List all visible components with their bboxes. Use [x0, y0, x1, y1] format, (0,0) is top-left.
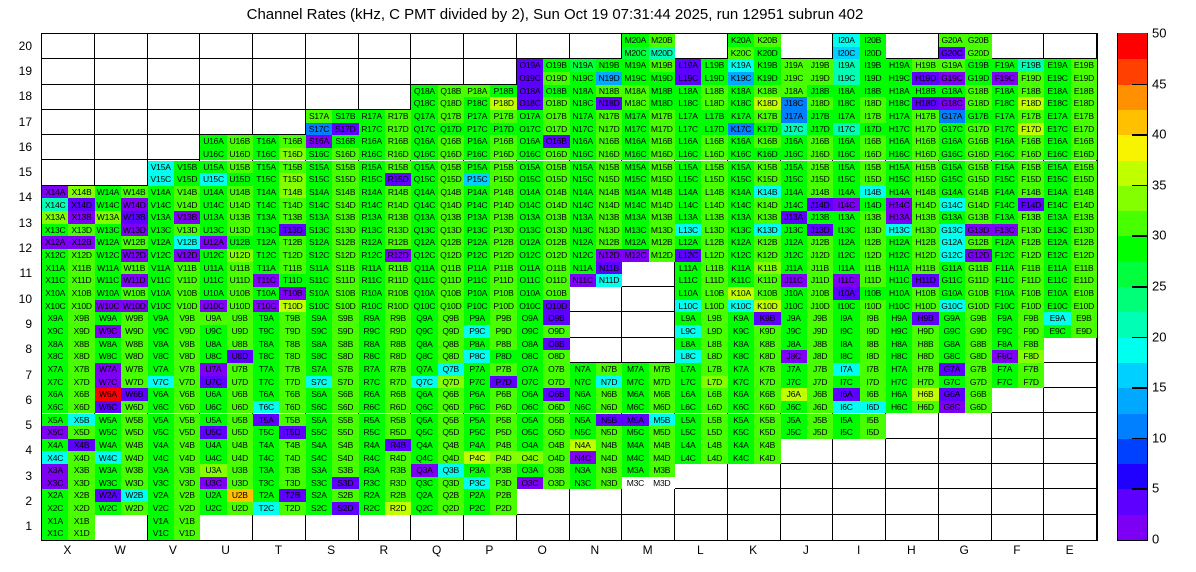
- channel-N17A[interactable]: N17A: [570, 110, 596, 123]
- channel-H7C[interactable]: H7C: [886, 376, 912, 389]
- channel-R15A[interactable]: R15A: [359, 161, 385, 174]
- channel-H11C[interactable]: H11C: [886, 274, 912, 287]
- channel-T6D[interactable]: T6D: [279, 401, 305, 414]
- heatmap-cell[interactable]: Q7AQ7BQ7CQ7D: [411, 363, 464, 388]
- channel-F14A[interactable]: F14A: [992, 186, 1018, 199]
- channel-X5B[interactable]: X5B: [68, 414, 94, 427]
- channel-F7A[interactable]: F7A: [992, 363, 1018, 376]
- channel-W4B[interactable]: W4B: [121, 439, 147, 452]
- channel-H16D[interactable]: H16D: [912, 148, 938, 161]
- channel-T8D[interactable]: T8D: [279, 350, 305, 363]
- channel-V15A[interactable]: V15A: [148, 161, 174, 174]
- heatmap-cell[interactable]: L7AL7BL7CL7D: [675, 363, 728, 388]
- channel-W10C[interactable]: W10C: [95, 300, 121, 313]
- heatmap-cell[interactable]: N18AN18BN18CN18D: [570, 85, 623, 110]
- channel-J17D[interactable]: J17D: [807, 123, 833, 136]
- channel-T14A[interactable]: T14A: [253, 186, 279, 199]
- channel-E17A[interactable]: E17A: [1044, 110, 1070, 123]
- heatmap-cell[interactable]: E10AE10BE10CE10D: [1044, 287, 1097, 312]
- channel-U10D[interactable]: U10D: [227, 300, 253, 313]
- channel-K6C[interactable]: K6C: [728, 401, 754, 414]
- channel-Q7C[interactable]: Q7C: [411, 376, 437, 389]
- channel-X9A[interactable]: X9A: [42, 312, 68, 325]
- channel-H18D[interactable]: H18D: [912, 97, 938, 110]
- heatmap-cell[interactable]: I6AI6BI6CI6D: [833, 388, 886, 413]
- channel-R4C[interactable]: R4C: [359, 451, 385, 464]
- heatmap-cell[interactable]: J14AJ14BJ14CJ14D: [781, 186, 834, 211]
- channel-V1C[interactable]: V1C: [148, 527, 174, 540]
- channel-W2B[interactable]: W2B: [121, 489, 147, 502]
- channel-M20A[interactable]: M20A: [622, 34, 648, 47]
- channel-T12B[interactable]: T12B: [279, 236, 305, 249]
- heatmap-cell[interactable]: N17AN17BN17CN17D: [570, 110, 623, 135]
- channel-G16A[interactable]: G16A: [939, 135, 965, 148]
- channel-P17A[interactable]: P17A: [464, 110, 490, 123]
- channel-L18A[interactable]: L18A: [675, 85, 701, 98]
- channel-K4B[interactable]: K4B: [754, 439, 780, 452]
- channel-H15C[interactable]: H15C: [886, 173, 912, 186]
- heatmap-cell[interactable]: L11AL11BL11CL11D: [675, 262, 728, 287]
- channel-H19B[interactable]: H19B: [912, 59, 938, 72]
- channel-M19B[interactable]: M19B: [649, 59, 675, 72]
- channel-U7C[interactable]: U7C: [200, 376, 226, 389]
- heatmap-cell[interactable]: R9AR9BR9CR9D: [359, 312, 412, 337]
- heatmap-cell[interactable]: O14AO14BO14CO14D: [517, 186, 570, 211]
- channel-L13A[interactable]: L13A: [675, 211, 701, 224]
- channel-K9A[interactable]: K9A: [728, 312, 754, 325]
- heatmap-cell[interactable]: P17AP17BP17CP17D: [464, 110, 517, 135]
- channel-I10C[interactable]: I10C: [833, 300, 859, 313]
- channel-I5D[interactable]: I5D: [860, 426, 886, 439]
- channel-U13D[interactable]: U13D: [227, 224, 253, 237]
- channel-T10D[interactable]: T10D: [279, 300, 305, 313]
- channel-S6C[interactable]: S6C: [306, 401, 332, 414]
- channel-N18A[interactable]: N18A: [570, 85, 596, 98]
- channel-H9A[interactable]: H9A: [886, 312, 912, 325]
- channel-L17A[interactable]: L17A: [675, 110, 701, 123]
- channel-U3D[interactable]: U3D: [227, 477, 253, 490]
- channel-J19D[interactable]: J19D: [807, 72, 833, 85]
- channel-K5C[interactable]: K5C: [728, 426, 754, 439]
- heatmap-cell[interactable]: G15AG15BG15CG15D: [939, 161, 992, 186]
- channel-P5C[interactable]: P5C: [464, 426, 490, 439]
- channel-X14D[interactable]: X14D: [68, 198, 94, 211]
- channel-N18D[interactable]: N18D: [596, 97, 622, 110]
- channel-V9B[interactable]: V9B: [174, 312, 200, 325]
- heatmap-cell[interactable]: G18AG18BG18CG18D: [939, 85, 992, 110]
- channel-V2D[interactable]: V2D: [174, 502, 200, 515]
- channel-R6B[interactable]: R6B: [385, 388, 411, 401]
- channel-S3D[interactable]: S3D: [332, 477, 358, 490]
- channel-V6B[interactable]: V6B: [174, 388, 200, 401]
- channel-O11D[interactable]: O11D: [543, 274, 569, 287]
- heatmap-cell[interactable]: U5AU5BU5CU5D: [200, 414, 253, 439]
- channel-P15A[interactable]: P15A: [464, 161, 490, 174]
- heatmap-cell[interactable]: V8AV8BV8CV8D: [148, 338, 201, 363]
- heatmap-cell[interactable]: J9AJ9BJ9CJ9D: [781, 312, 834, 337]
- heatmap-cell[interactable]: O5AO5BO5CO5D: [517, 414, 570, 439]
- channel-W11D[interactable]: W11D: [121, 274, 147, 287]
- channel-P6D[interactable]: P6D: [490, 401, 516, 414]
- heatmap-cell[interactable]: S17AS17BS17CS17D: [306, 110, 359, 135]
- channel-N12A[interactable]: N12A: [570, 236, 596, 249]
- channel-P7A[interactable]: P7A: [464, 363, 490, 376]
- channel-W3A[interactable]: W3A: [95, 464, 121, 477]
- channel-N13D[interactable]: N13D: [596, 224, 622, 237]
- channel-F14D[interactable]: F14D: [1018, 198, 1044, 211]
- channel-H14D[interactable]: H14D: [912, 198, 938, 211]
- channel-V10C[interactable]: V10C: [148, 300, 174, 313]
- heatmap-cell[interactable]: K5AK5BK5CK5D: [728, 414, 781, 439]
- heatmap-cell[interactable]: V4AV4BV4CV4D: [148, 439, 201, 464]
- channel-W2C[interactable]: W2C: [95, 502, 121, 515]
- channel-M6B[interactable]: M6B: [649, 388, 675, 401]
- heatmap-cell[interactable]: O6AO6BO6CO6D: [517, 388, 570, 413]
- heatmap-cell[interactable]: N15AN15BN15CN15D: [570, 161, 623, 186]
- heatmap-cell[interactable]: N4AN4BN4CN4D: [570, 439, 623, 464]
- heatmap-cell[interactable]: I12AI12BI12CI12D: [833, 236, 886, 261]
- channel-U6C[interactable]: U6C: [200, 401, 226, 414]
- channel-S6B[interactable]: S6B: [332, 388, 358, 401]
- channel-P14C[interactable]: P14C: [464, 198, 490, 211]
- channel-W9A[interactable]: W9A: [95, 312, 121, 325]
- heatmap-cell[interactable]: S8AS8BS8CS8D: [306, 338, 359, 363]
- channel-Q12D[interactable]: Q12D: [438, 249, 464, 262]
- channel-X7D[interactable]: X7D: [68, 376, 94, 389]
- channel-O9D[interactable]: O9D: [543, 325, 569, 338]
- channel-Q18A[interactable]: Q18A: [411, 85, 437, 98]
- channel-T15A[interactable]: T15A: [253, 161, 279, 174]
- channel-U8D[interactable]: U8D: [227, 350, 253, 363]
- channel-F11B[interactable]: F11B: [1018, 262, 1044, 275]
- channel-K11B[interactable]: K11B: [754, 262, 780, 275]
- channel-J8C[interactable]: J8C: [781, 350, 807, 363]
- channel-T15D[interactable]: T15D: [279, 173, 305, 186]
- channel-H17D[interactable]: H17D: [912, 123, 938, 136]
- channel-V7D[interactable]: V7D: [174, 376, 200, 389]
- channel-V9A[interactable]: V9A: [148, 312, 174, 325]
- channel-J5C[interactable]: J5C: [781, 426, 807, 439]
- heatmap-cell[interactable]: G12AG12BG12CG12D: [939, 236, 992, 261]
- channel-P17C[interactable]: P17C: [464, 123, 490, 136]
- channel-H16B[interactable]: H16B: [912, 135, 938, 148]
- channel-V7B[interactable]: V7B: [174, 363, 200, 376]
- channel-S7D[interactable]: S7D: [332, 376, 358, 389]
- channel-L16C[interactable]: L16C: [675, 148, 701, 161]
- channel-N13A[interactable]: N13A: [570, 211, 596, 224]
- channel-I20D[interactable]: I20D: [860, 47, 886, 60]
- channel-J18B[interactable]: J18B: [807, 85, 833, 98]
- heatmap-cell[interactable]: Q2AQ2BQ2CQ2D: [411, 489, 464, 514]
- heatmap-cell[interactable]: O3AO3BO3CO3D: [517, 464, 570, 489]
- channel-G16B[interactable]: G16B: [965, 135, 991, 148]
- heatmap-cell[interactable]: X7AX7BX7CX7D: [42, 363, 95, 388]
- channel-P4D[interactable]: P4D: [490, 451, 516, 464]
- heatmap-cell[interactable]: R3AR3BR3CR3D: [359, 464, 412, 489]
- heatmap-cell[interactable]: Q14AQ14BQ14CQ14D: [411, 186, 464, 211]
- channel-M18A[interactable]: M18A: [622, 85, 648, 98]
- heatmap-cell[interactable]: X8AX8BX8CX8D: [42, 338, 95, 363]
- channel-L4C[interactable]: L4C: [675, 451, 701, 464]
- channel-L17B[interactable]: L17B: [701, 110, 727, 123]
- channel-F8D[interactable]: F8D: [1018, 350, 1044, 363]
- channel-G13A[interactable]: G13A: [939, 211, 965, 224]
- channel-T3C[interactable]: T3C: [253, 477, 279, 490]
- channel-X9C[interactable]: X9C: [42, 325, 68, 338]
- channel-L17C[interactable]: L17C: [675, 123, 701, 136]
- channel-N11C[interactable]: N11C: [570, 274, 596, 287]
- channel-O3C[interactable]: O3C: [517, 477, 543, 490]
- channel-E9B[interactable]: E9B: [1071, 312, 1097, 325]
- channel-K8B[interactable]: K8B: [754, 338, 780, 351]
- channel-H12C[interactable]: H12C: [886, 249, 912, 262]
- channel-M13B[interactable]: M13B: [649, 211, 675, 224]
- heatmap-cell[interactable]: T7AT7BT7CT7D: [253, 363, 306, 388]
- heatmap-cell[interactable]: T3AT3BT3CT3D: [253, 464, 306, 489]
- channel-S9D[interactable]: S9D: [332, 325, 358, 338]
- channel-F10D[interactable]: F10D: [1018, 300, 1044, 313]
- heatmap-cell[interactable]: S7AS7BS7CS7D: [306, 363, 359, 388]
- channel-G19B[interactable]: G19B: [965, 59, 991, 72]
- channel-G7C[interactable]: G7C: [939, 376, 965, 389]
- channel-H16C[interactable]: H16C: [886, 148, 912, 161]
- channel-M7D[interactable]: M7D: [649, 376, 675, 389]
- heatmap-cell[interactable]: S9AS9BS9CS9D: [306, 312, 359, 337]
- channel-S17B[interactable]: S17B: [332, 110, 358, 123]
- channel-I6B[interactable]: I6B: [860, 388, 886, 401]
- channel-J9A[interactable]: J9A: [781, 312, 807, 325]
- heatmap-cell[interactable]: R5AR5BR5CR5D: [359, 414, 412, 439]
- channel-W14B[interactable]: W14B: [121, 186, 147, 199]
- channel-T16D[interactable]: T16D: [279, 148, 305, 161]
- channel-K17B[interactable]: K17B: [754, 110, 780, 123]
- heatmap-cell[interactable]: I8AI8BI8CI8D: [833, 338, 886, 363]
- channel-Q6C[interactable]: Q6C: [411, 401, 437, 414]
- channel-M19C[interactable]: M19C: [622, 72, 648, 85]
- channel-E15B[interactable]: E15B: [1071, 161, 1097, 174]
- channel-E19A[interactable]: E19A: [1044, 59, 1070, 72]
- heatmap-cell[interactable]: O4AO4BO4CO4D: [517, 439, 570, 464]
- channel-P5A[interactable]: P5A: [464, 414, 490, 427]
- channel-H8C[interactable]: H8C: [886, 350, 912, 363]
- channel-N19D[interactable]: N19D: [596, 72, 622, 85]
- channel-U5D[interactable]: U5D: [227, 426, 253, 439]
- channel-P6A[interactable]: P6A: [464, 388, 490, 401]
- heatmap-cell[interactable]: L8AL8BL8CL8D: [675, 338, 728, 363]
- heatmap-cell[interactable]: X9AX9BX9CX9D: [42, 312, 95, 337]
- channel-F8B[interactable]: F8B: [1018, 338, 1044, 351]
- channel-I18C[interactable]: I18C: [833, 97, 859, 110]
- channel-P10D[interactable]: P10D: [490, 300, 516, 313]
- channel-Q5D[interactable]: Q5D: [438, 426, 464, 439]
- channel-I8D[interactable]: I8D: [860, 350, 886, 363]
- heatmap-cell[interactable]: R6AR6BR6CR6D: [359, 388, 412, 413]
- channel-F13D[interactable]: F13D: [1018, 224, 1044, 237]
- channel-P2D[interactable]: P2D: [490, 502, 516, 515]
- heatmap-cell[interactable]: T12AT12BT12CT12D: [253, 236, 306, 261]
- channel-S16B[interactable]: S16B: [332, 135, 358, 148]
- heatmap-cell[interactable]: V7AV7BV7CV7D: [148, 363, 201, 388]
- channel-X12D[interactable]: X12D: [68, 249, 94, 262]
- channel-R6C[interactable]: R6C: [359, 401, 385, 414]
- channel-N5B[interactable]: N5B: [596, 414, 622, 427]
- channel-L8C[interactable]: L8C: [675, 350, 701, 363]
- channel-S17C[interactable]: S17C: [306, 123, 332, 136]
- heatmap-cell[interactable]: J19AJ19BJ19CJ19D: [781, 59, 834, 84]
- channel-W13B[interactable]: W13B: [121, 211, 147, 224]
- channel-U11C[interactable]: U11C: [200, 274, 226, 287]
- channel-I17C[interactable]: I17C: [833, 123, 859, 136]
- channel-H6A[interactable]: H6A: [886, 388, 912, 401]
- channel-U4B[interactable]: U4B: [227, 439, 253, 452]
- heatmap-cell[interactable]: J8AJ8BJ8CJ8D: [781, 338, 834, 363]
- channel-W6B[interactable]: W6B: [121, 388, 147, 401]
- channel-P9D[interactable]: P9D: [490, 325, 516, 338]
- channel-I11C[interactable]: I11C: [833, 274, 859, 287]
- channel-U5B[interactable]: U5B: [227, 414, 253, 427]
- channel-P13D[interactable]: P13D: [490, 224, 516, 237]
- channel-R17D[interactable]: R17D: [385, 123, 411, 136]
- channel-O8B[interactable]: O8B: [543, 338, 569, 351]
- heatmap-cell[interactable]: X4AX4BX4CX4D: [42, 439, 95, 464]
- channel-L12C[interactable]: L12C: [675, 249, 701, 262]
- channel-M5B[interactable]: M5B: [649, 414, 675, 427]
- channel-T8C[interactable]: T8C: [253, 350, 279, 363]
- channel-H18A[interactable]: H18A: [886, 85, 912, 98]
- channel-K9B[interactable]: K9B: [754, 312, 780, 325]
- channel-I10A[interactable]: I10A: [833, 287, 859, 300]
- channel-O10D[interactable]: O10D: [543, 300, 569, 313]
- channel-M12C[interactable]: M12C: [622, 249, 648, 262]
- channel-S7B[interactable]: S7B: [332, 363, 358, 376]
- channel-J16C[interactable]: J16C: [781, 148, 807, 161]
- channel-U12B[interactable]: U12B: [227, 236, 253, 249]
- heatmap-cell[interactable]: T15AT15BT15CT15D: [253, 161, 306, 186]
- channel-O13C[interactable]: O13C: [517, 224, 543, 237]
- channel-E10D[interactable]: E10D: [1071, 300, 1097, 313]
- heatmap-cell[interactable]: N14AN14BN14CN14D: [570, 186, 623, 211]
- channel-K10A[interactable]: K10A: [728, 287, 754, 300]
- heatmap-cell[interactable]: K9AK9BK9CK9D: [728, 312, 781, 337]
- channel-F9A[interactable]: F9A: [992, 312, 1018, 325]
- heatmap-cell[interactable]: V12AV12BV12CV12D: [148, 236, 201, 261]
- heatmap-cell[interactable]: H14AH14BH14CH14D: [886, 186, 939, 211]
- channel-Q9A[interactable]: Q9A: [411, 312, 437, 325]
- channel-I15D[interactable]: I15D: [860, 173, 886, 186]
- channel-L5C[interactable]: L5C: [675, 426, 701, 439]
- channel-K16B[interactable]: K16B: [754, 135, 780, 148]
- channel-M16A[interactable]: M16A: [622, 135, 648, 148]
- channel-T12C[interactable]: T12C: [253, 249, 279, 262]
- channel-R7A[interactable]: R7A: [359, 363, 385, 376]
- channel-W11B[interactable]: W11B: [121, 262, 147, 275]
- channel-T2A[interactable]: T2A: [253, 489, 279, 502]
- channel-U14A[interactable]: U14A: [200, 186, 226, 199]
- channel-F10A[interactable]: F10A: [992, 287, 1018, 300]
- channel-G11B[interactable]: G11B: [965, 262, 991, 275]
- channel-Q18B[interactable]: Q18B: [438, 85, 464, 98]
- channel-X11A[interactable]: X11A: [42, 262, 68, 275]
- channel-H7D[interactable]: H7D: [912, 376, 938, 389]
- channel-M7A[interactable]: M7A: [622, 363, 648, 376]
- channel-W14C[interactable]: W14C: [95, 198, 121, 211]
- channel-P12A[interactable]: P12A: [464, 236, 490, 249]
- channel-X11B[interactable]: X11B: [68, 262, 94, 275]
- channel-W14D[interactable]: W14D: [121, 198, 147, 211]
- channel-M7C[interactable]: M7C: [622, 376, 648, 389]
- channel-G10D[interactable]: G10D: [965, 300, 991, 313]
- channel-F15C[interactable]: F15C: [992, 173, 1018, 186]
- heatmap-cell[interactable]: W11AW11BW11CW11D: [95, 262, 148, 287]
- channel-O12C[interactable]: O12C: [517, 249, 543, 262]
- heatmap-cell[interactable]: X11AX11BX11CX11D: [42, 262, 95, 287]
- channel-Q9D[interactable]: Q9D: [438, 325, 464, 338]
- channel-F13B[interactable]: F13B: [1018, 211, 1044, 224]
- channel-K12B[interactable]: K12B: [754, 236, 780, 249]
- channel-G17D[interactable]: G17D: [965, 123, 991, 136]
- channel-P16D[interactable]: P16D: [490, 148, 516, 161]
- heatmap-cell[interactable]: T4AT4BT4CT4D: [253, 439, 306, 464]
- channel-J17A[interactable]: J17A: [781, 110, 807, 123]
- heatmap-cell[interactable]: Q3AQ3BQ3CQ3D: [411, 464, 464, 489]
- channel-P18D[interactable]: P18D: [490, 97, 516, 110]
- heatmap-cell[interactable]: H11AH11BH11CH11D: [886, 262, 939, 287]
- channel-G15C[interactable]: G15C: [939, 173, 965, 186]
- channel-T12D[interactable]: T12D: [279, 249, 305, 262]
- channel-U3B[interactable]: U3B: [227, 464, 253, 477]
- channel-J16A[interactable]: J16A: [781, 135, 807, 148]
- channel-J8B[interactable]: J8B: [807, 338, 833, 351]
- channel-K17A[interactable]: K17A: [728, 110, 754, 123]
- channel-S15C[interactable]: S15C: [306, 173, 332, 186]
- channel-R10B[interactable]: R10B: [385, 287, 411, 300]
- channel-X6B[interactable]: X6B: [68, 388, 94, 401]
- channel-H9B[interactable]: H9B: [912, 312, 938, 325]
- channel-G18D[interactable]: G18D: [965, 97, 991, 110]
- channel-T10B[interactable]: T10B: [279, 287, 305, 300]
- channel-N4A[interactable]: N4A: [570, 439, 596, 452]
- heatmap-cell[interactable]: V10AV10BV10CV10D: [148, 287, 201, 312]
- heatmap-cell[interactable]: G14AG14BG14CG14D: [939, 186, 992, 211]
- channel-F12B[interactable]: F12B: [1018, 236, 1044, 249]
- channel-X4D[interactable]: X4D: [68, 451, 94, 464]
- channel-S4D[interactable]: S4D: [332, 451, 358, 464]
- channel-O11C[interactable]: O11C: [517, 274, 543, 287]
- channel-P5D[interactable]: P5D: [490, 426, 516, 439]
- channel-P15C[interactable]: P15C: [464, 173, 490, 186]
- channel-Q11A[interactable]: Q11A: [411, 262, 437, 275]
- channel-R11A[interactable]: R11A: [359, 262, 385, 275]
- heatmap-cell[interactable]: I9AI9BI9CI9D: [833, 312, 886, 337]
- channel-R12A[interactable]: R12A: [359, 236, 385, 249]
- channel-M15C[interactable]: M15C: [622, 173, 648, 186]
- channel-N7C[interactable]: N7C: [570, 376, 596, 389]
- channel-L18B[interactable]: L18B: [701, 85, 727, 98]
- channel-Q2A[interactable]: Q2A: [411, 489, 437, 502]
- channel-E10A[interactable]: E10A: [1044, 287, 1070, 300]
- channel-R6D[interactable]: R6D: [385, 401, 411, 414]
- channel-Q9B[interactable]: Q9B: [438, 312, 464, 325]
- channel-N14B[interactable]: N14B: [596, 186, 622, 199]
- channel-R15D[interactable]: R15D: [385, 173, 411, 186]
- channel-J12A[interactable]: J12A: [781, 236, 807, 249]
- channel-V12D[interactable]: V12D: [174, 249, 200, 262]
- channel-S11A[interactable]: S11A: [306, 262, 332, 275]
- channel-R10D[interactable]: R10D: [385, 300, 411, 313]
- channel-P8A[interactable]: P8A: [464, 338, 490, 351]
- heatmap-cell[interactable]: E15AE15BE15CE15D: [1044, 161, 1097, 186]
- channel-K11A[interactable]: K11A: [728, 262, 754, 275]
